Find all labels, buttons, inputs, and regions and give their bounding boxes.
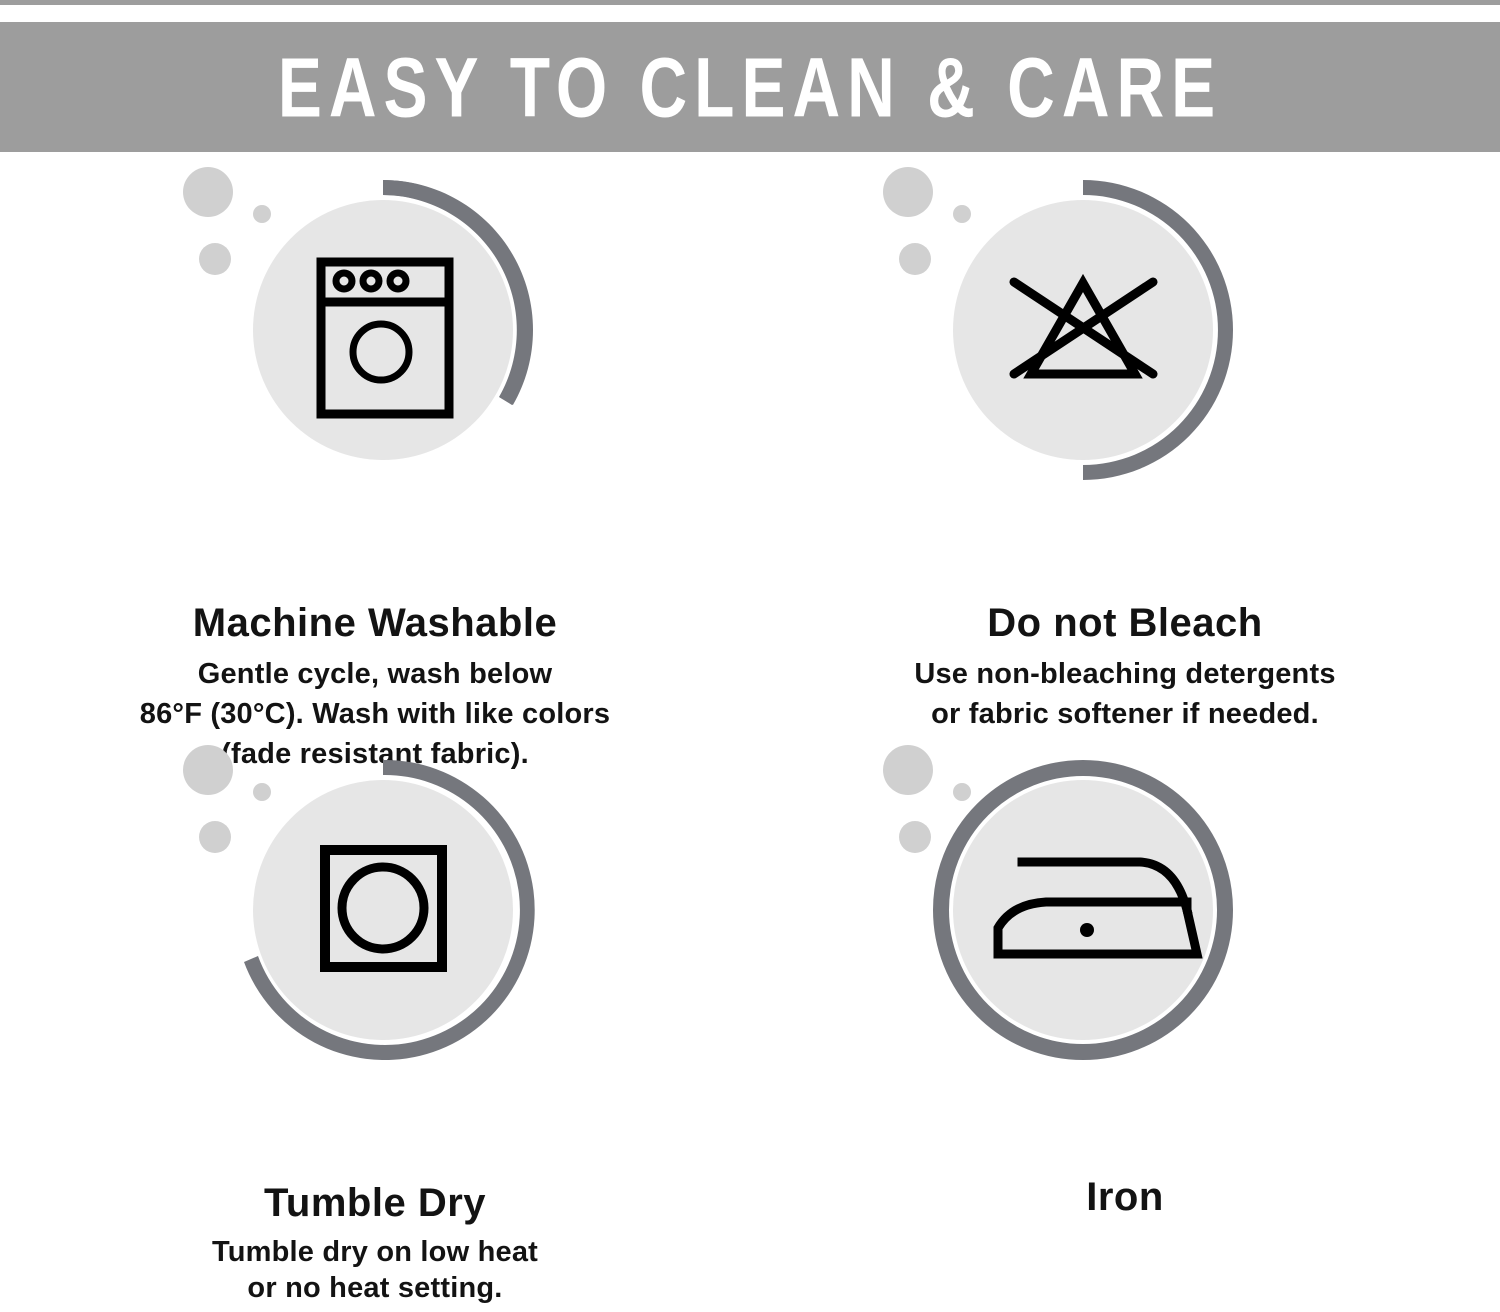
bubble-large-icon	[183, 167, 233, 217]
header-banner: EASY TO CLEAN & CARE	[0, 22, 1500, 152]
bubble-small-icon	[953, 783, 971, 801]
card-label-do-not-bleach: Do not Bleach	[750, 600, 1500, 646]
care-card-tumble-dry: Tumble Dry Tumble dry on low heat or no …	[0, 732, 750, 1312]
bubble-medium-icon	[899, 243, 931, 275]
iron-heat-dot-icon	[1080, 923, 1094, 937]
badge-machine-washable	[0, 152, 750, 512]
bubble-medium-icon	[199, 243, 231, 275]
badge-tumble-dry	[0, 732, 750, 1092]
badge-circle	[953, 780, 1213, 1040]
bubble-small-icon	[953, 205, 971, 223]
badge-circle	[253, 200, 513, 460]
badge-do-not-bleach	[750, 152, 1500, 512]
bubble-medium-icon	[199, 821, 231, 853]
bubble-large-icon	[883, 167, 933, 217]
bubble-large-icon	[883, 745, 933, 795]
care-card-do-not-bleach: Do not Bleach Use non-bleaching detergen…	[750, 152, 1500, 732]
top-divider-rule	[0, 0, 1500, 5]
page-title: EASY TO CLEAN & CARE	[278, 45, 1222, 129]
card-description-tumble-dry: Tumble dry on low heat or no heat settin…	[0, 1234, 750, 1307]
card-description-do-not-bleach: Use non-bleaching detergents or fabric s…	[750, 654, 1500, 734]
bubble-small-icon	[253, 783, 271, 801]
care-card-machine-washable: Machine Washable Gentle cycle, wash belo…	[0, 152, 750, 732]
card-label-tumble-dry: Tumble Dry	[0, 1180, 750, 1226]
badge-iron	[750, 732, 1500, 1092]
bubble-large-icon	[183, 745, 233, 795]
card-label-iron: Iron	[750, 1174, 1500, 1220]
badge-circle	[253, 780, 513, 1040]
bubble-medium-icon	[899, 821, 931, 853]
bubble-small-icon	[253, 205, 271, 223]
card-label-machine-washable: Machine Washable	[0, 600, 750, 646]
care-instruction-grid: Machine Washable Gentle cycle, wash belo…	[0, 152, 1500, 1311]
care-card-iron: Iron	[750, 732, 1500, 1312]
